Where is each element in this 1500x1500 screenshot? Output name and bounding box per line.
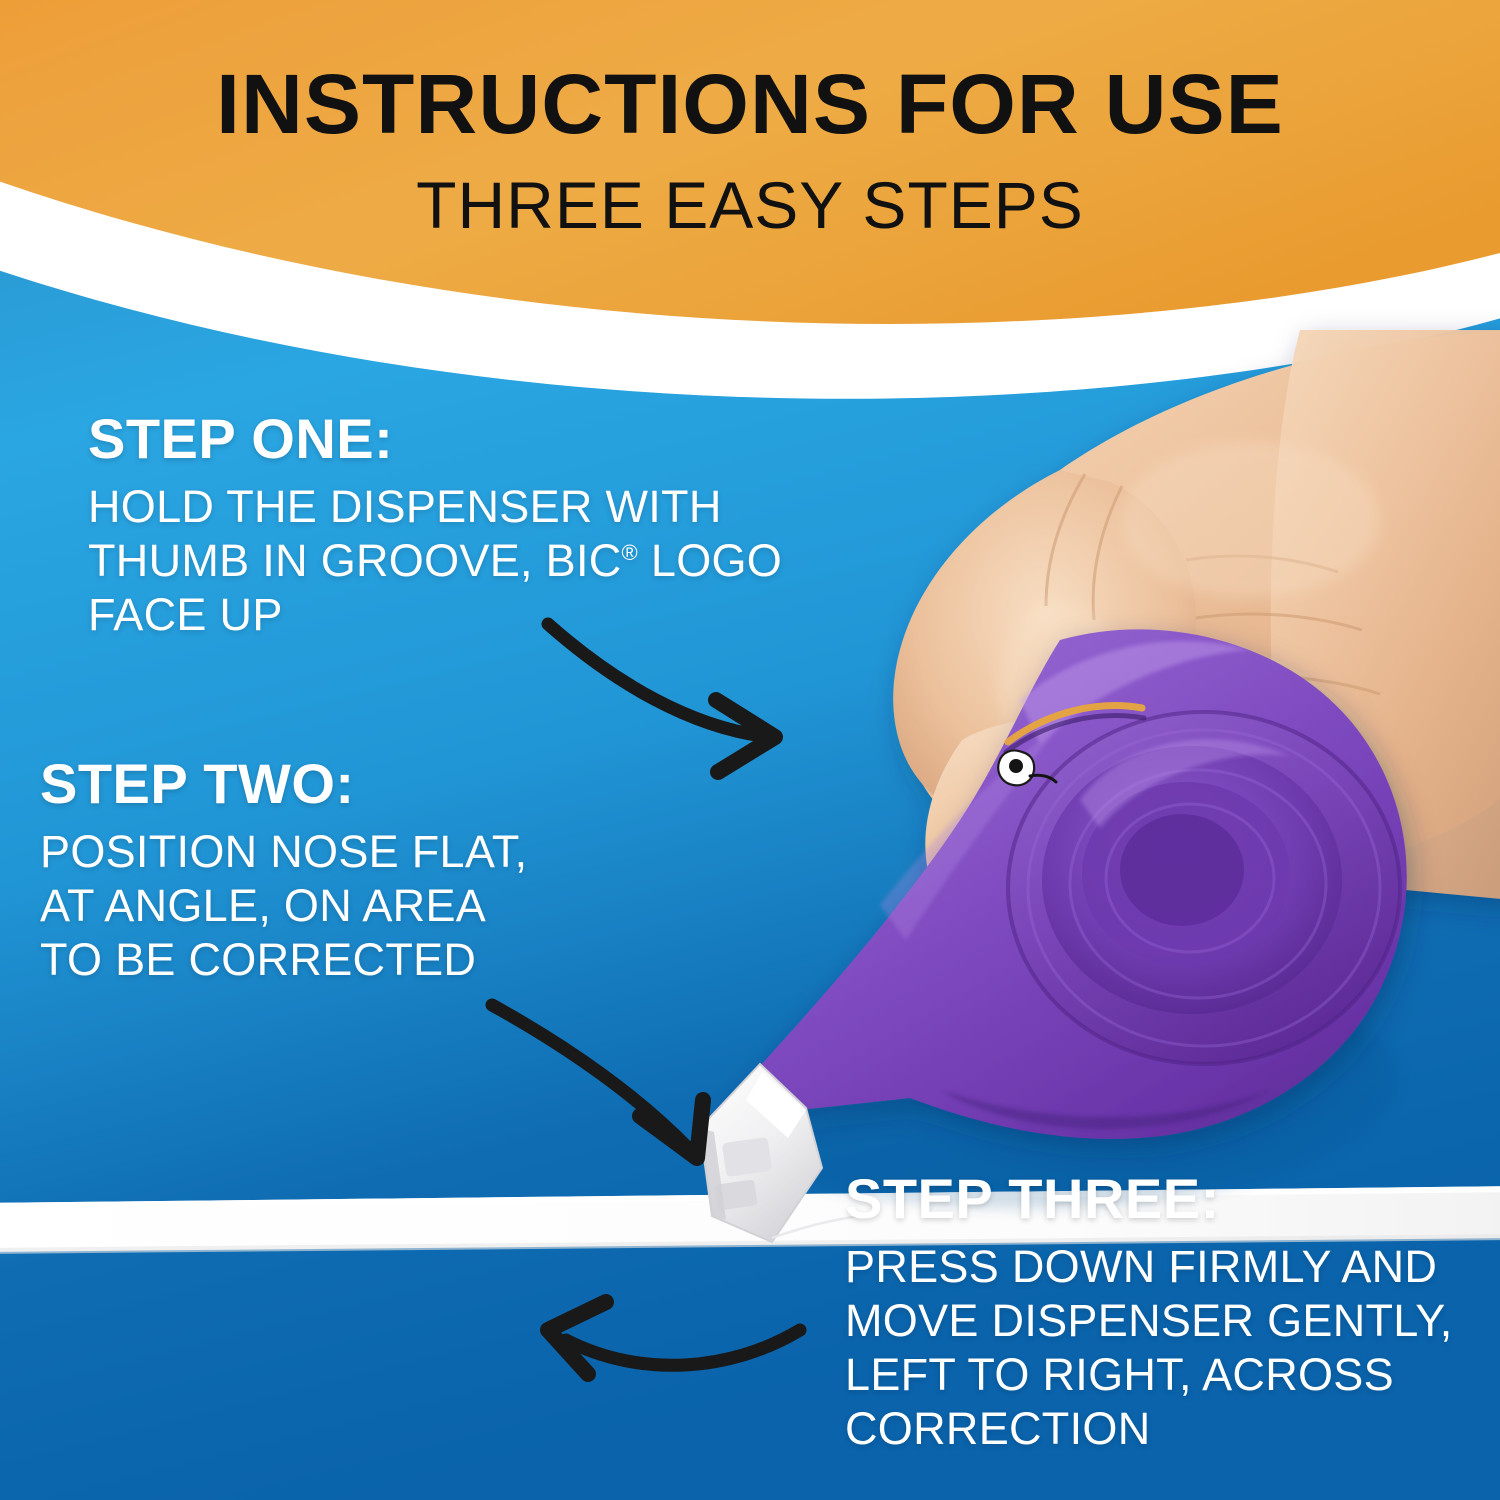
step-one-block: STEP ONE: HOLD THE DISPENSER WITH THUMB … [88,410,782,642]
step-one-title: STEP ONE: [88,410,782,468]
registered-mark: ® [622,540,639,565]
step-three-line-1: PRESS DOWN FIRMLY AND [845,1240,1453,1294]
step-two-line-3: TO BE CORRECTED [40,933,527,987]
step-one-line-2: THUMB IN GROOVE, BIC® LOGO [88,534,782,588]
step-two-line-1: POSITION NOSE FLAT, [40,825,527,879]
step-two-line-2: AT ANGLE, ON AREA [40,879,527,933]
step-one-line-1: HOLD THE DISPENSER WITH [88,480,782,534]
step-two-body: POSITION NOSE FLAT, AT ANGLE, ON AREA TO… [40,825,527,987]
step-three-line-2: MOVE DISPENSER GENTLY, [845,1294,1453,1348]
step-one-line-3: FACE UP [88,588,782,642]
step-three-line-4: CORRECTION [845,1402,1453,1456]
instructions-poster: INSTRUCTIONS FOR USE THREE EASY STEPS [0,0,1500,1500]
step-one-line-2c: LOGO [638,535,782,586]
step-one-body: HOLD THE DISPENSER WITH THUMB IN GROOVE,… [88,480,782,642]
step-three-block: STEP THREE: PRESS DOWN FIRMLY AND MOVE D… [845,1170,1453,1456]
step-two-title: STEP TWO: [40,755,527,813]
step-one-line-2a: THUMB IN GROOVE, BIC [88,535,622,586]
step-two-block: STEP TWO: POSITION NOSE FLAT, AT ANGLE, … [40,755,527,987]
step-three-title: STEP THREE: [845,1170,1453,1228]
step-three-line-3: LEFT TO RIGHT, ACROSS [845,1348,1453,1402]
step-three-body: PRESS DOWN FIRMLY AND MOVE DISPENSER GEN… [845,1240,1453,1456]
